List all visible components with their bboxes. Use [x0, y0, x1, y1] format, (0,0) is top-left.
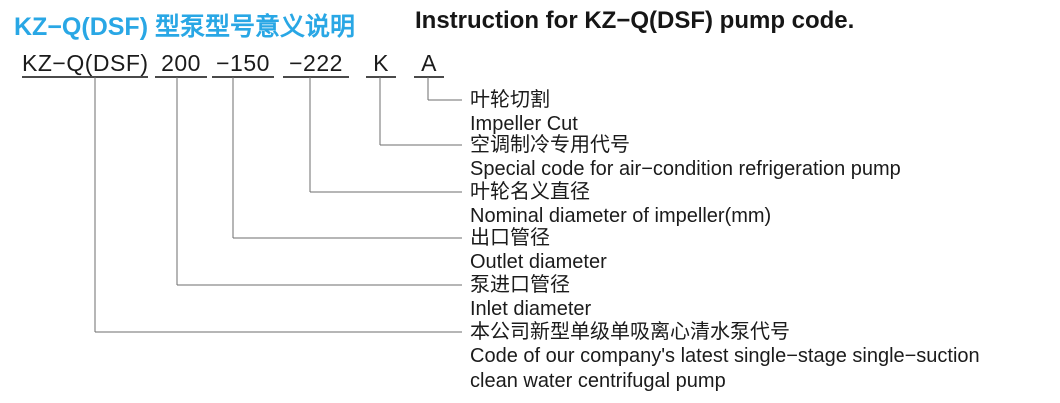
annotation-label-en: Code of our company's latest single−stag…	[470, 344, 980, 369]
code-segment-0: KZ−Q(DSF)	[22, 50, 148, 77]
annotation-label-cn: 出口管径	[470, 225, 607, 250]
annotation-inlet-diameter: 泵进口管径Inlet diameter	[470, 272, 591, 322]
code-segment-1: 200	[155, 50, 207, 77]
annotation-label-en-line2: clean water centrifugal pump	[470, 369, 980, 394]
annotation-label-cn: 泵进口管径	[470, 272, 591, 297]
annotation-outlet-diameter: 出口管径Outlet diameter	[470, 225, 607, 275]
annotation-label-cn: 空调制冷专用代号	[470, 132, 901, 157]
code-segment-3: −222	[283, 50, 349, 77]
code-segment-2: −150	[212, 50, 274, 77]
annotation-label-cn: 叶轮名义直径	[470, 179, 771, 204]
code-segment-5: A	[414, 50, 444, 77]
annotation-company-pump-code: 本公司新型单级单吸离心清水泵代号Code of our company's la…	[470, 319, 980, 394]
pump-code-diagram: KZ−Q(DSF) 型泵型号意义说明 Instruction for KZ−Q(…	[0, 0, 1060, 403]
annotation-label-cn: 叶轮切割	[470, 87, 578, 112]
annotation-nominal-impeller-diameter: 叶轮名义直径Nominal diameter of impeller(mm)	[470, 179, 771, 229]
annotation-special-code-air-condition: 空调制冷专用代号Special code for air−condition r…	[470, 132, 901, 182]
code-segment-4: K	[366, 50, 396, 77]
annotation-impeller-cut: 叶轮切割Impeller Cut	[470, 87, 578, 137]
title-english: Instruction for KZ−Q(DSF) pump code.	[415, 7, 854, 35]
annotation-label-cn: 本公司新型单级单吸离心清水泵代号	[470, 319, 980, 344]
title-chinese: KZ−Q(DSF) 型泵型号意义说明	[14, 7, 355, 43]
